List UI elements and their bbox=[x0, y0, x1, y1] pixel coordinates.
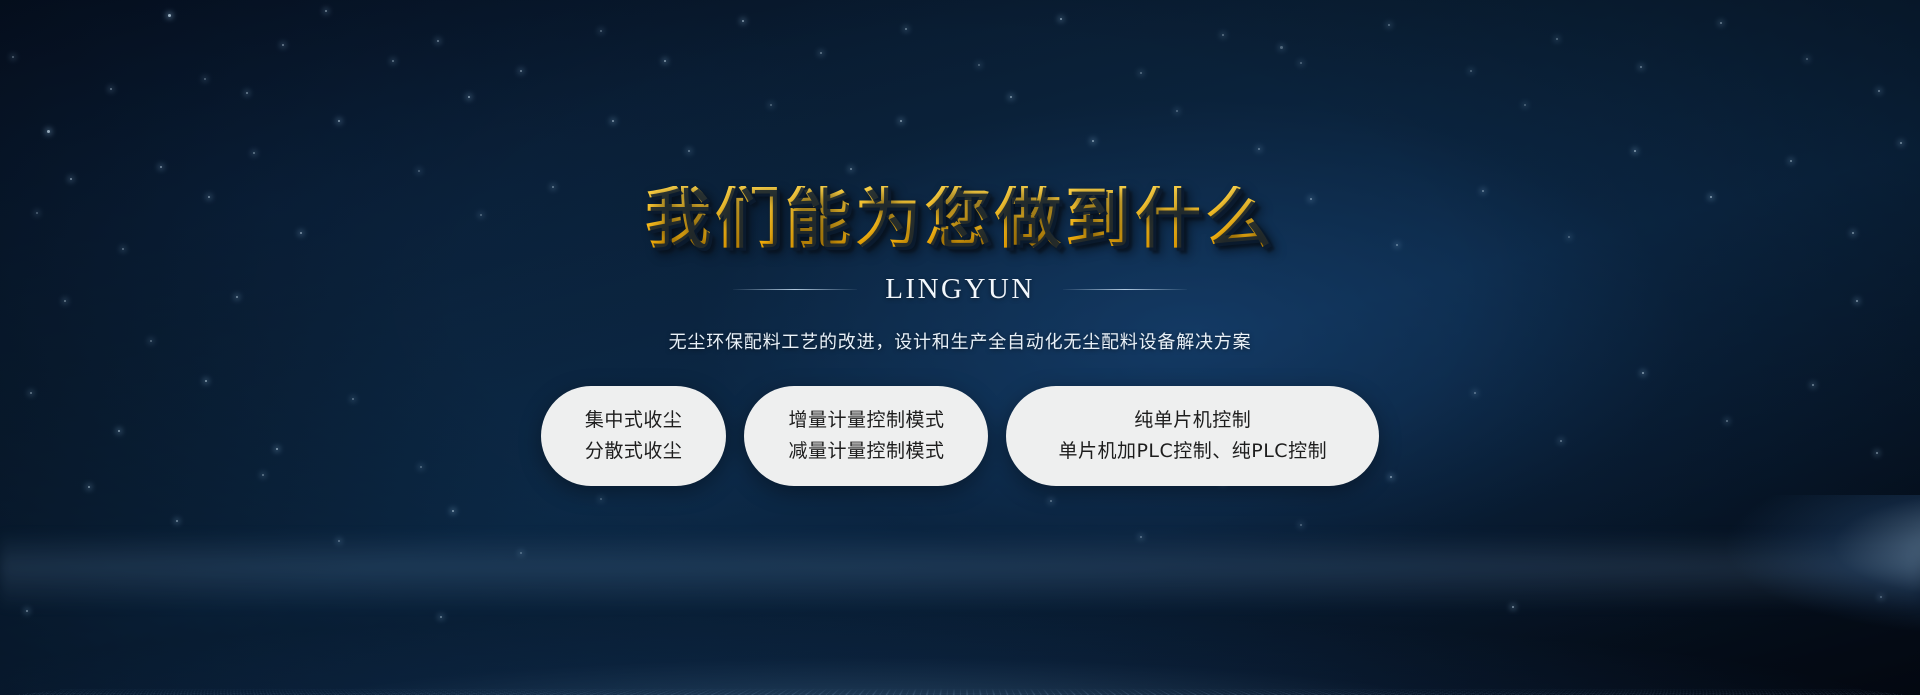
feature-pill[interactable]: 增量计量控制模式 减量计量控制模式 bbox=[744, 386, 988, 486]
brand-subtitle-row: LINGYUN bbox=[733, 273, 1187, 306]
pill-line: 分散式收尘 bbox=[585, 436, 683, 467]
banner-content: 我们能为您做到什么 LINGYUN 无尘环保配料工艺的改进，设计和生产全自动化无… bbox=[0, 0, 1920, 695]
banner-description: 无尘环保配料工艺的改进，设计和生产全自动化无尘配料设备解决方案 bbox=[669, 328, 1252, 354]
page-title: 我们能为您做到什么 bbox=[645, 186, 1275, 252]
pill-line: 单片机加PLC控制、纯PLC控制 bbox=[1058, 436, 1327, 467]
hero-banner: 我们能为您做到什么 LINGYUN 无尘环保配料工艺的改进，设计和生产全自动化无… bbox=[0, 0, 1920, 695]
pill-line: 纯单片机控制 bbox=[1058, 405, 1327, 436]
feature-pill[interactable]: 纯单片机控制 单片机加PLC控制、纯PLC控制 bbox=[1006, 386, 1379, 486]
pill-line: 增量计量控制模式 bbox=[788, 405, 944, 436]
divider-left-icon bbox=[733, 289, 857, 290]
pill-line: 减量计量控制模式 bbox=[788, 436, 944, 467]
brand-name: LINGYUN bbox=[885, 273, 1035, 306]
pill-line: 集中式收尘 bbox=[585, 405, 683, 436]
feature-pill-group: 集中式收尘 分散式收尘 增量计量控制模式 减量计量控制模式 纯单片机控制 单片机… bbox=[541, 386, 1379, 486]
feature-pill[interactable]: 集中式收尘 分散式收尘 bbox=[541, 386, 727, 486]
divider-right-icon bbox=[1063, 289, 1187, 290]
